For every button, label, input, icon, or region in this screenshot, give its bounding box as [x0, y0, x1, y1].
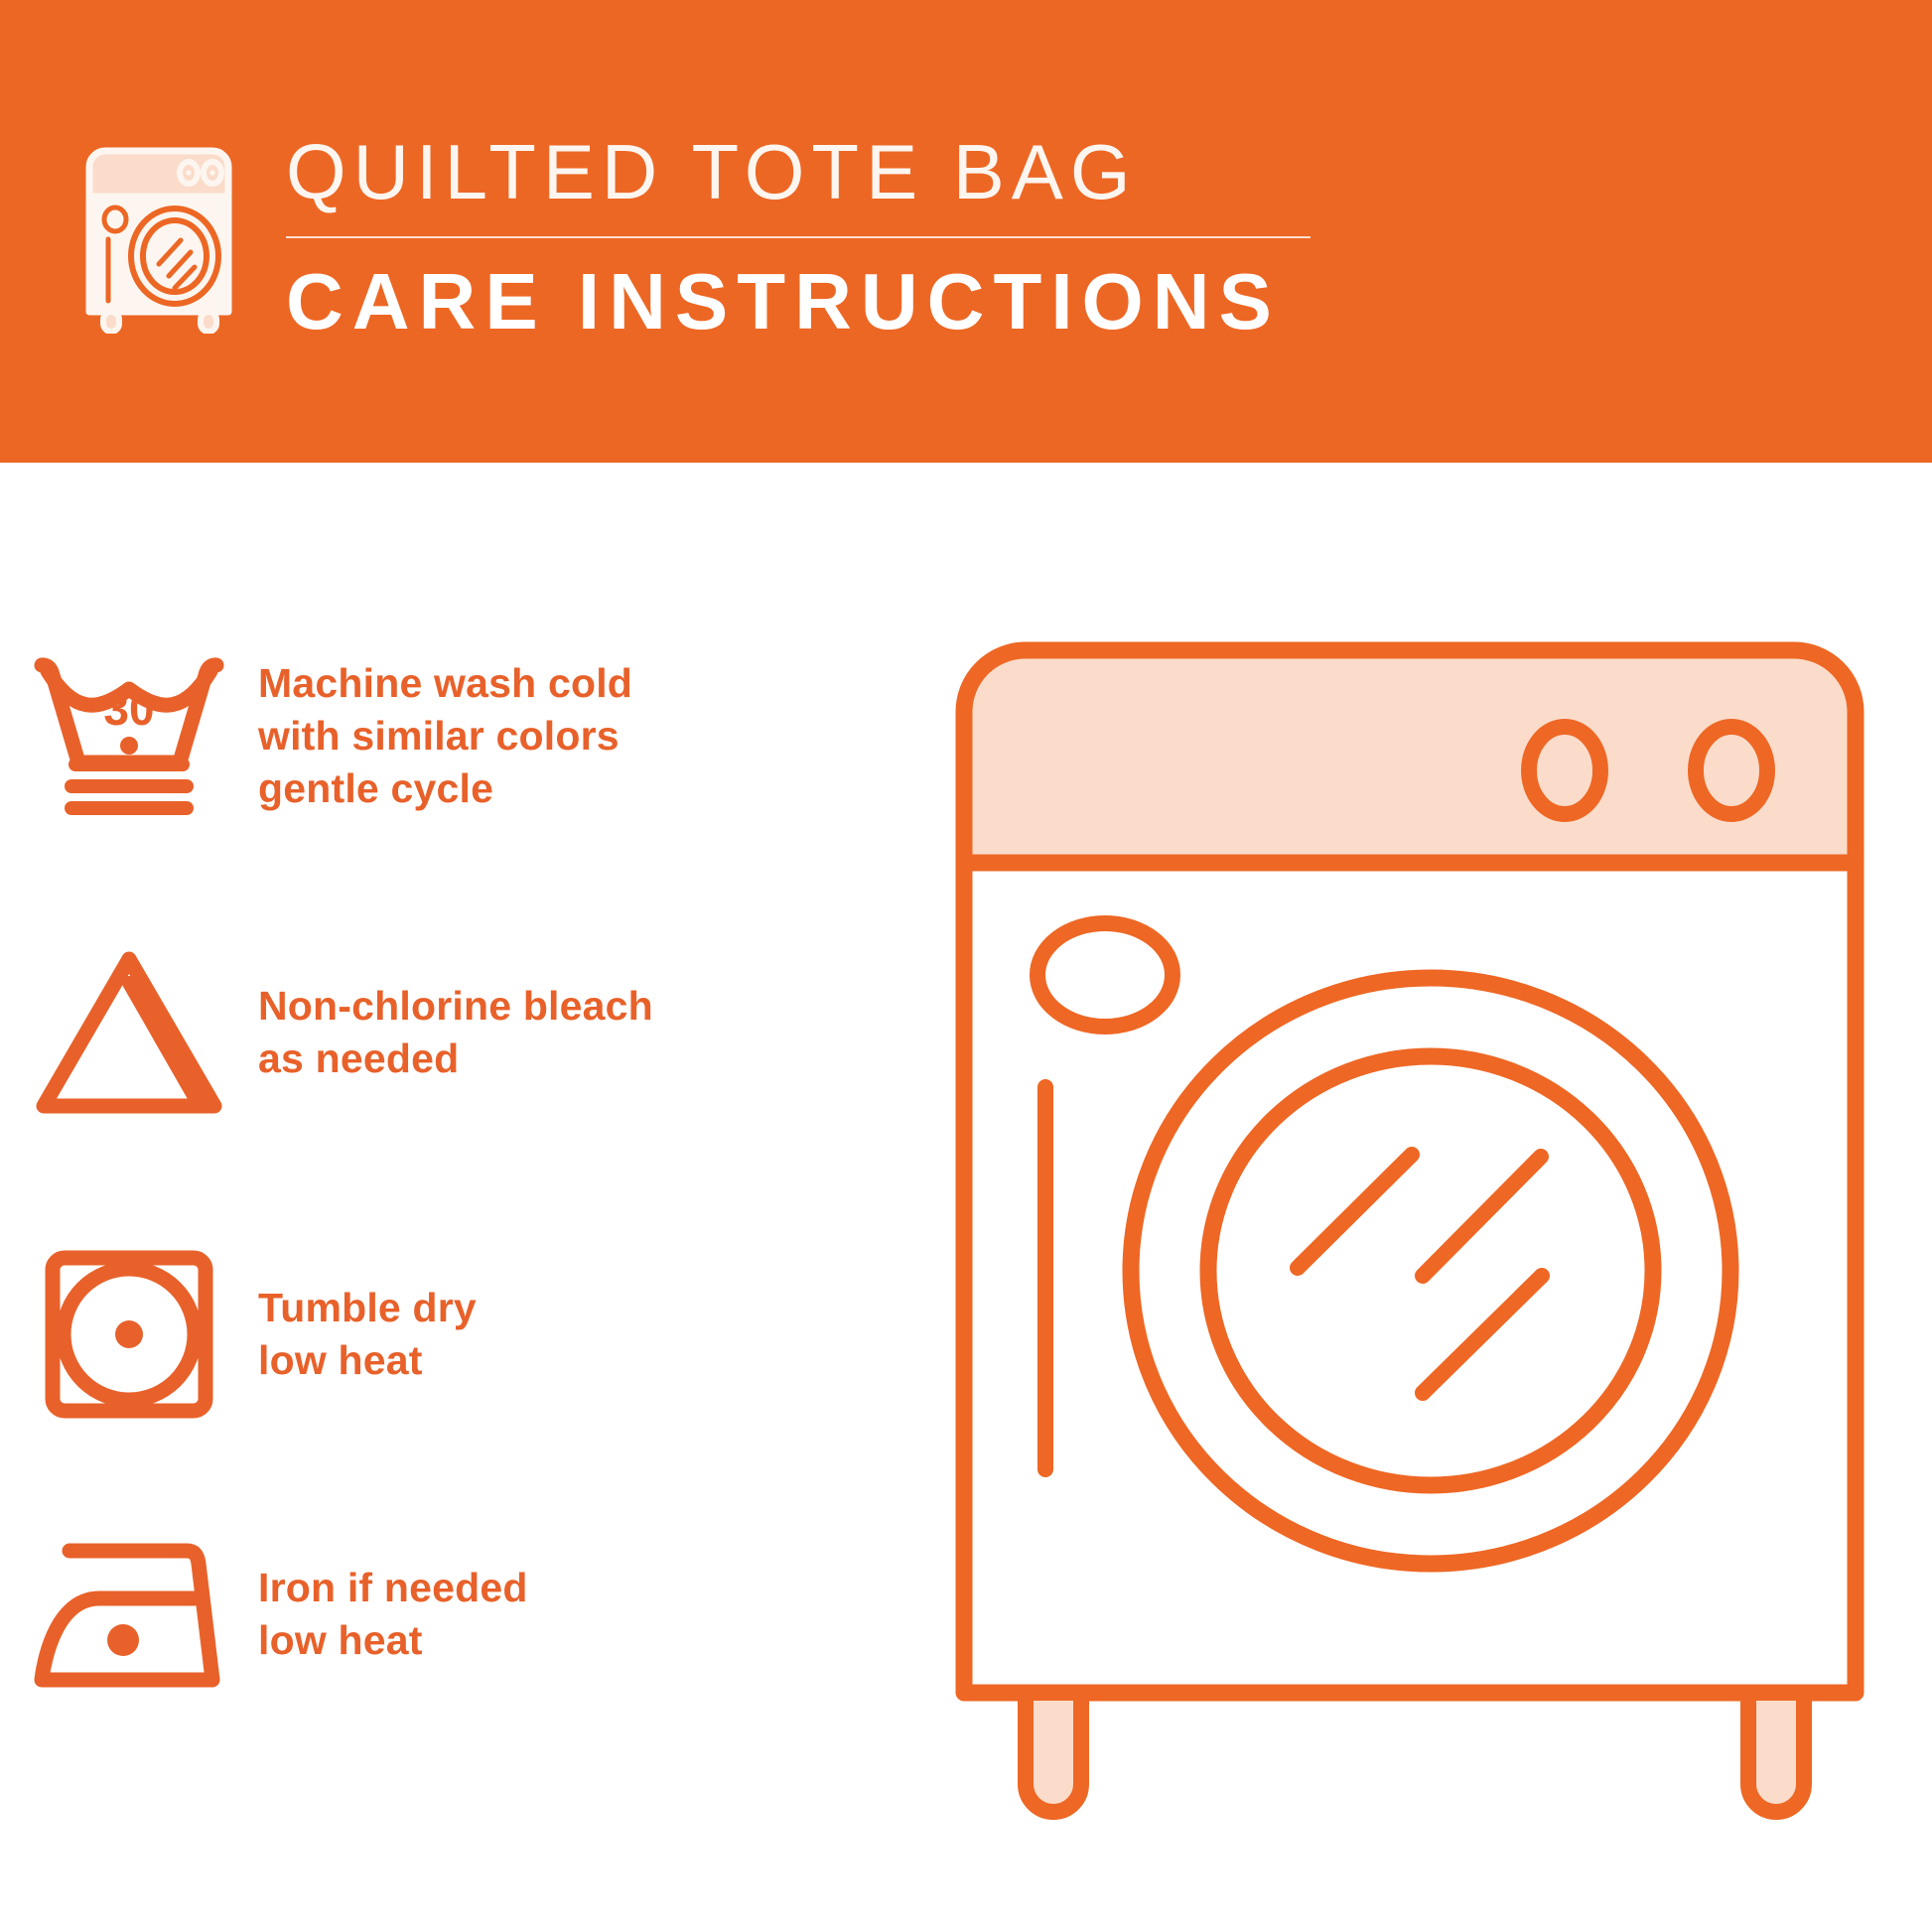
page-subtitle: CARE INSTRUCTIONS — [286, 254, 1318, 349]
iron-low-heat-icon — [0, 1535, 258, 1694]
tumble-dry-low-heat-icon — [0, 1247, 258, 1422]
instruction-text-bleach: Non-chlorine bleach as needed — [258, 980, 653, 1085]
instruction-line: gentle cycle — [258, 762, 632, 815]
instruction-row-iron: Iron if needed low heat — [0, 1535, 894, 1694]
header-title-block: QUILTED TOTE BAG CARE INSTRUCTIONS — [286, 125, 1318, 349]
washing-machine-logo-icon — [83, 137, 234, 334]
title-divider — [286, 236, 1311, 238]
page-title: QUILTED TOTE BAG — [286, 125, 1318, 218]
instruction-line: Non-chlorine bleach — [258, 980, 653, 1033]
instruction-line: as needed — [258, 1033, 653, 1085]
instruction-line: low heat — [258, 1614, 528, 1667]
wash-temperature-label: 30 — [103, 683, 154, 735]
instruction-line: low heat — [258, 1334, 477, 1387]
header-banner: QUILTED TOTE BAG CARE INSTRUCTIONS — [0, 0, 1932, 463]
wash-tub-30-gentle-icon: 30 — [0, 651, 258, 820]
instruction-line: Tumble dry — [258, 1282, 477, 1334]
instruction-text-wash: Machine wash cold with similar colors ge… — [258, 657, 632, 815]
care-instructions-page: QUILTED TOTE BAG CARE INSTRUCTIONS 30 — [0, 0, 1932, 1932]
non-chlorine-bleach-triangle-icon — [0, 947, 258, 1118]
instruction-text-iron: Iron if needed low heat — [258, 1562, 528, 1667]
instruction-line: with similar colors — [258, 710, 632, 762]
instruction-row-wash: 30 Machine wash cold with similar colors… — [0, 651, 894, 820]
instruction-row-bleach: Non-chlorine bleach as needed — [0, 947, 894, 1118]
care-instruction-list: 30 Machine wash cold with similar colors… — [0, 463, 894, 1932]
instruction-row-tumble-dry: Tumble dry low heat — [0, 1247, 894, 1422]
instruction-line: Iron if needed — [258, 1562, 528, 1614]
instruction-text-tumble-dry: Tumble dry low heat — [258, 1282, 477, 1387]
instruction-line: Machine wash cold — [258, 657, 632, 710]
washing-machine-illustration — [948, 621, 1871, 1911]
